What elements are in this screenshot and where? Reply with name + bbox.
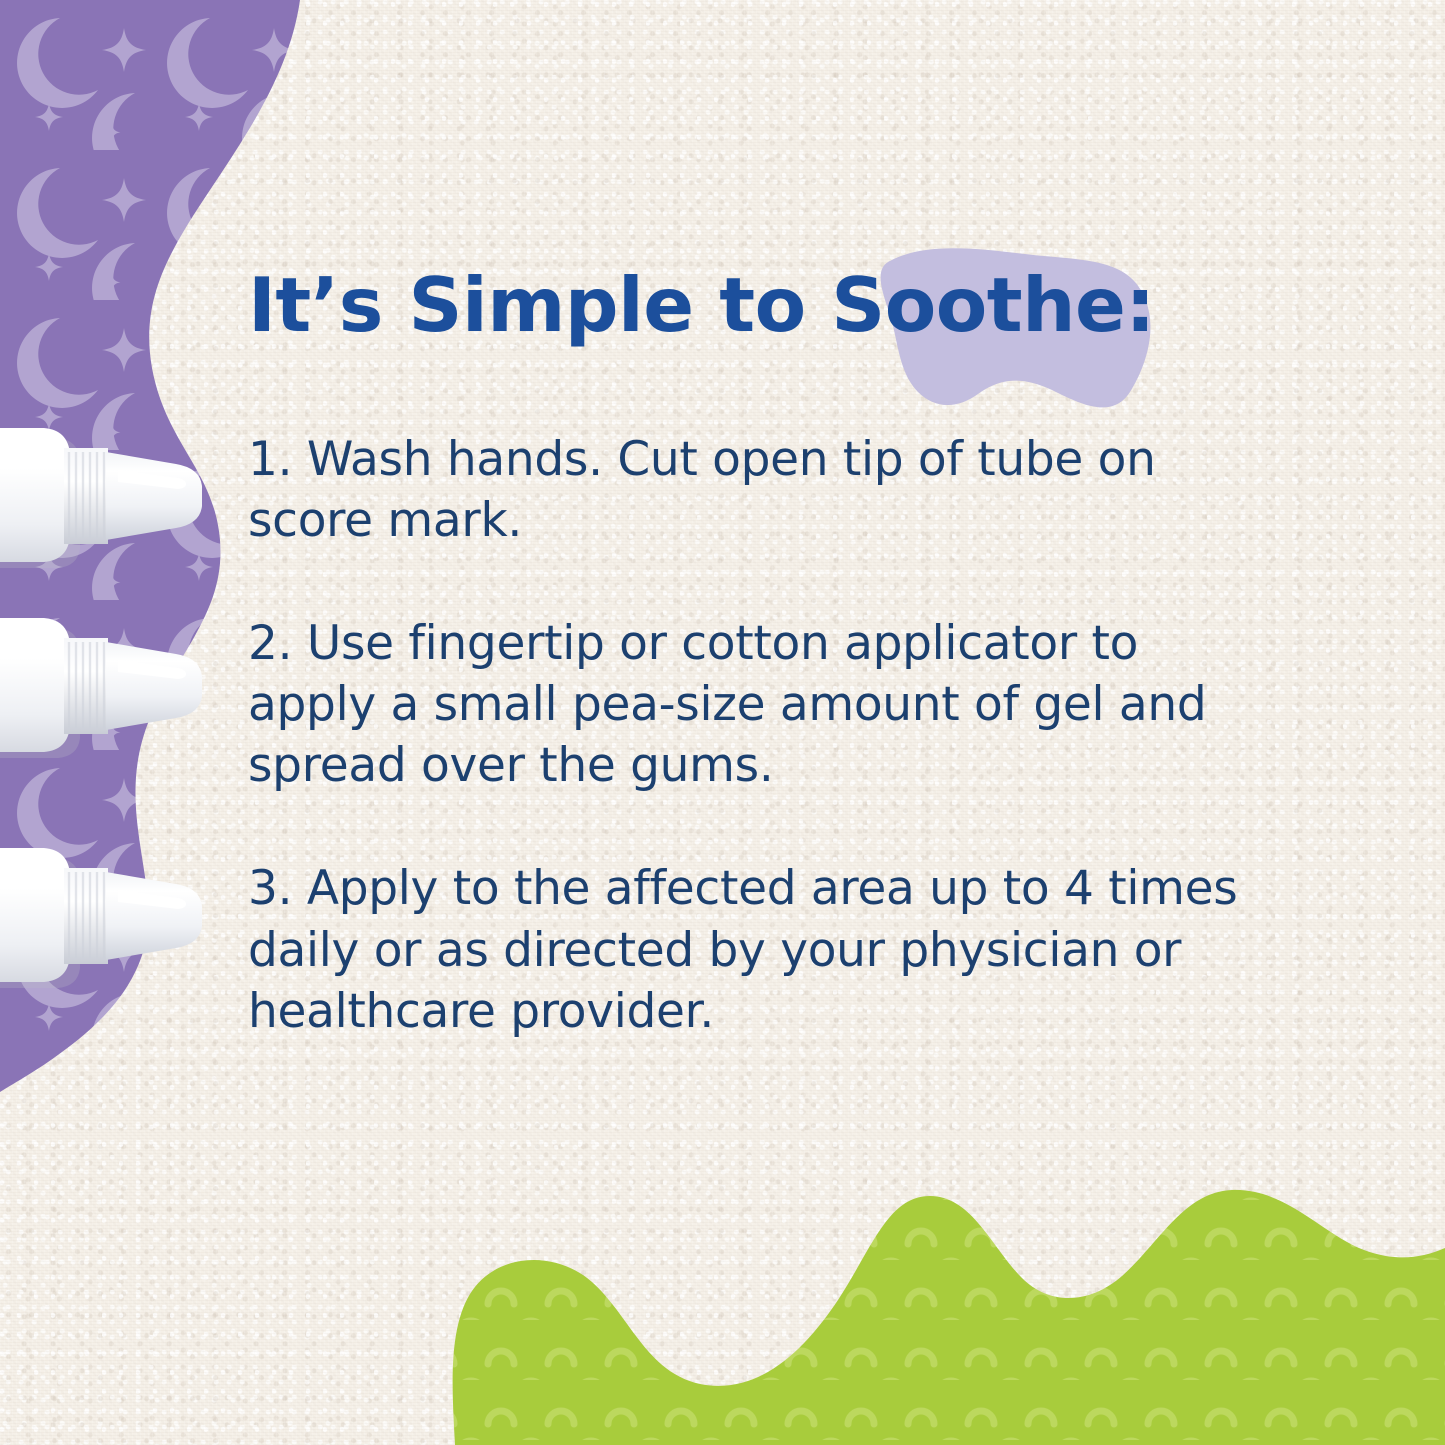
list-item: 2. Use fingertip or cotton applicator to… (248, 613, 1258, 796)
gel-tube-nozzle (0, 848, 202, 988)
product-instructions-card: It’s Simple to Soothe: 1. Wash hands. Cu… (0, 0, 1445, 1445)
gel-tube-nozzle (0, 428, 202, 568)
gel-tube-nozzle (0, 618, 202, 758)
steps-list: 1. Wash hands. Cut open tip of tube on s… (248, 429, 1258, 1042)
page-title: It’s Simple to Soothe: (248, 268, 1258, 343)
list-item: 3. Apply to the affected area up to 4 ti… (248, 858, 1258, 1041)
instructions-content: It’s Simple to Soothe: 1. Wash hands. Cu… (248, 268, 1258, 1042)
list-item: 1. Wash hands. Cut open tip of tube on s… (248, 429, 1258, 551)
